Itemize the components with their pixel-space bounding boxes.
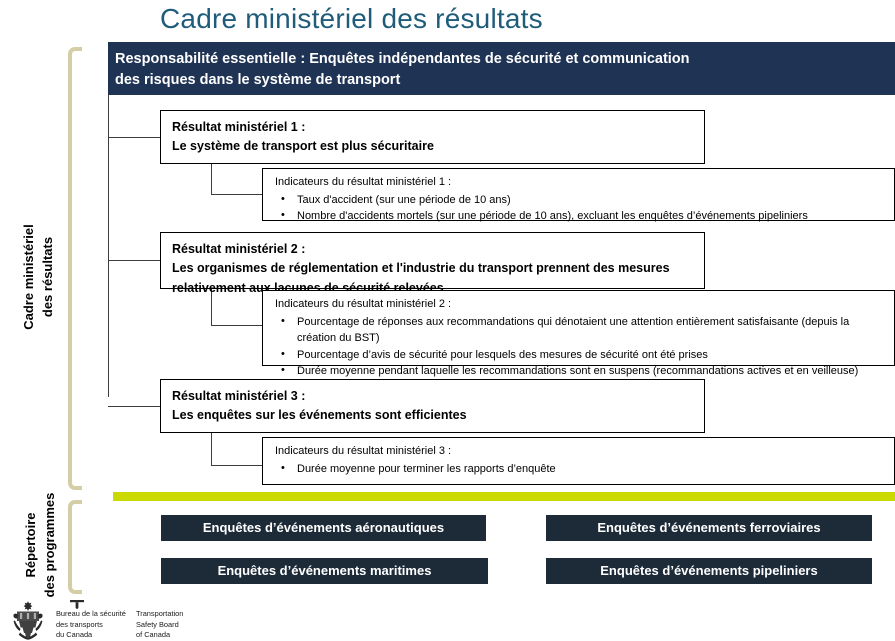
- footer-fr-line1: Bureau de la sécurité: [56, 609, 126, 620]
- result-2-heading: Résultat ministériel 2 :: [172, 240, 704, 259]
- result-1-heading: Résultat ministériel 1 :: [172, 118, 704, 137]
- connector-branch-result-2: [108, 260, 160, 261]
- result-3-statement: Les enquêtes sur les événements sont eff…: [172, 406, 704, 425]
- result-3-heading: Résultat ministériel 3 :: [172, 387, 704, 406]
- program-box-aeronautical: Enquêtes d’événements aéronautiques: [161, 515, 486, 541]
- footer-en-line1: Transportation: [136, 609, 183, 620]
- connector-trunk-vertical: [108, 95, 109, 397]
- footer-text-french: Bureau de la sécurité des transports du …: [56, 609, 126, 641]
- result-box-3: Résultat ministériel 3 : Les enquêtes su…: [160, 379, 705, 433]
- footer-fr-line3: du Canada: [56, 630, 126, 641]
- framework-label-line1: Cadre ministériel: [20, 162, 39, 392]
- footer-wordmark: Bureau de la sécurité des transports du …: [8, 600, 268, 640]
- result-box-2: Résultat ministériel 2 : Les organismes …: [160, 232, 705, 289]
- indicator-1-title: Indicateurs du résultat ministériel 1 :: [275, 174, 888, 191]
- list-item: Pourcentage de réponses aux recommandati…: [275, 314, 888, 347]
- inventory-section-label: Répertoire des programmes: [22, 490, 60, 600]
- connector-branch-result-3: [108, 406, 160, 407]
- program-box-marine: Enquêtes d’événements maritimes: [161, 558, 488, 584]
- result-box-1: Résultat ministériel 1 : Le système de t…: [160, 110, 705, 164]
- framework-label-line2: des résultats: [39, 162, 58, 392]
- indicator-box-2: Indicateurs du résultat ministériel 2 : …: [262, 290, 895, 366]
- inventory-label-line2: des programmes: [41, 490, 60, 600]
- footer-en-line3: of Canada: [136, 630, 183, 641]
- indicator-2-list: Pourcentage de réponses aux recommandati…: [275, 314, 888, 380]
- indicator-1-list: Taux d'accident (sur une période de 10 a…: [275, 192, 888, 225]
- page-title: Cadre ministériel des résultats: [160, 3, 543, 35]
- list-item: Taux d'accident (sur une période de 10 a…: [275, 192, 888, 209]
- program-box-pipeline: Enquêtes d’événements pipeliniers: [546, 558, 872, 584]
- connector-drop-indicators-2-horizontal: [211, 325, 262, 326]
- connector-branch-result-1: [108, 137, 160, 138]
- footer-en-line2: Safety Board: [136, 620, 183, 631]
- program-box-rail: Enquêtes d’événements ferroviaires: [546, 515, 872, 541]
- core-responsibility-line1: Responsabilité essentielle : Enquêtes in…: [115, 51, 690, 67]
- connector-drop-indicators-3-vertical: [211, 433, 212, 466]
- inventory-bracket: [68, 500, 82, 594]
- core-responsibility-banner: Responsabilité essentielle : Enquêtes in…: [108, 42, 895, 95]
- list-item: Durée moyenne pour terminer les rapports…: [275, 461, 888, 478]
- result-1-statement: Le système de transport est plus sécurit…: [172, 137, 704, 156]
- core-responsibility-line2: des risques dans le système de transport: [115, 70, 895, 91]
- connector-drop-indicators-1-horizontal: [211, 194, 262, 195]
- coat-of-arms-icon: [10, 600, 46, 640]
- indicator-2-title: Indicateurs du résultat ministériel 2 :: [275, 296, 888, 313]
- connector-drop-indicators-1-vertical: [211, 164, 212, 195]
- framework-section-label: Cadre ministériel des résultats: [20, 162, 58, 392]
- list-item: Pourcentage d’avis de sécurité pour lesq…: [275, 347, 888, 364]
- canada-flag-icon: [70, 600, 84, 609]
- connector-drop-indicators-3-horizontal: [211, 465, 262, 466]
- framework-bracket: [68, 47, 82, 490]
- indicator-3-list: Durée moyenne pour terminer les rapports…: [275, 461, 888, 478]
- indicator-3-title: Indicateurs du résultat ministériel 3 :: [275, 443, 888, 460]
- inventory-label-line1: Répertoire: [22, 490, 41, 600]
- result-2-statement: Les organismes de réglementation et l'in…: [172, 259, 704, 278]
- list-item: Durée moyenne pendant laquelle les recom…: [275, 363, 888, 380]
- slide-canvas: Cadre ministériel des résultats Cadre mi…: [0, 0, 895, 641]
- list-item: Nombre d'accidents mortels (sur une péri…: [275, 208, 888, 225]
- section-divider-bar: [113, 492, 895, 501]
- footer-fr-line2: des transports: [56, 620, 126, 631]
- indicator-box-1: Indicateurs du résultat ministériel 1 : …: [262, 168, 895, 221]
- indicator-box-3: Indicateurs du résultat ministériel 3 : …: [262, 437, 895, 485]
- footer-text-english: Transportation Safety Board of Canada: [136, 609, 183, 641]
